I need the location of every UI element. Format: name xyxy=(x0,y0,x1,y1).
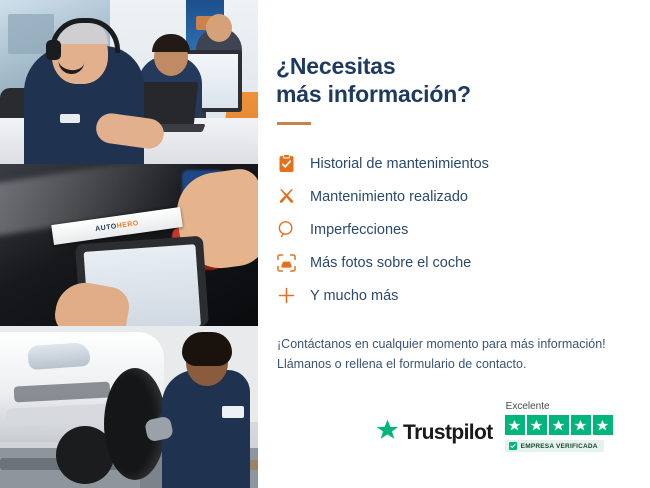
trustpilot-widget[interactable]: Trustpilot Excelente EMPRESA VERIFICADA xyxy=(376,401,613,452)
verified-company-badge: EMPRESA VERIFICADA xyxy=(505,440,604,452)
ruler-brand-part-b: HERO xyxy=(116,219,139,229)
trustpilot-wordmark: Trustpilot xyxy=(403,421,493,445)
trustpilot-star-icon xyxy=(376,419,399,446)
trustpilot-star-filled xyxy=(505,415,525,435)
mechanic-wheel-photo xyxy=(0,326,258,488)
page-title-line-2: más información? xyxy=(276,81,471,107)
verified-company-label: EMPRESA VERIFICADA xyxy=(521,443,598,450)
car-headlight xyxy=(27,342,91,370)
contact-line-1: ¡Contáctanos en cualquier momento para m… xyxy=(277,337,606,351)
trustpilot-star-filled xyxy=(593,415,613,435)
contact-line-2: Llámanos o rellena el formulario de cont… xyxy=(277,357,526,371)
page-title: ¿Necesitas más información? xyxy=(276,52,526,108)
mechanic-hair xyxy=(182,332,232,366)
promo-card: AUTOHERO ¿Nece xyxy=(0,0,650,488)
trustpilot-rating-block: Excelente EMPRESA VERIFICADA xyxy=(505,401,613,452)
ruler-brand-part-a: AUTO xyxy=(95,223,117,233)
check-icon xyxy=(509,442,517,450)
ruler-brand-label: AUTOHERO xyxy=(95,219,139,232)
agent-name-badge xyxy=(60,114,80,123)
feature-list: Historial de mantenimientos Mantenimient… xyxy=(276,147,650,312)
feature-label: Más fotos sobre el coche xyxy=(310,255,471,271)
trustpilot-star-filled xyxy=(571,415,591,435)
feature-item-imperfecciones: Imperfecciones xyxy=(276,213,650,246)
magnifier-icon xyxy=(276,220,296,240)
trustpilot-stars xyxy=(505,415,613,435)
feature-item-mas: Y mucho más xyxy=(276,279,650,312)
feature-item-mantenimiento: Mantenimiento realizado xyxy=(276,180,650,213)
mechanic-name-badge xyxy=(222,406,244,418)
trustpilot-star-filled xyxy=(549,415,569,435)
tools-icon xyxy=(276,187,296,207)
feature-label: Historial de mantenimientos xyxy=(310,156,489,172)
feature-label: Y mucho más xyxy=(310,288,398,304)
trustpilot-star-filled xyxy=(527,415,547,435)
plus-icon xyxy=(276,286,296,306)
content-panel: ¿Necesitas más información? Historial de… xyxy=(258,0,650,488)
contact-paragraph: ¡Contáctanos en cualquier momento para m… xyxy=(277,334,627,375)
car-inspection-ruler-photo: AUTOHERO xyxy=(0,164,258,326)
car-scan-icon xyxy=(276,253,296,273)
trustpilot-rating-label: Excelente xyxy=(506,401,550,412)
title-divider xyxy=(277,122,311,125)
feature-item-fotos: Más fotos sobre el coche xyxy=(276,246,650,279)
trustpilot-brand[interactable]: Trustpilot xyxy=(376,419,493,452)
feature-item-historial: Historial de mantenimientos xyxy=(276,147,650,180)
photo-column: AUTOHERO xyxy=(0,0,258,488)
call-center-agent-photo xyxy=(0,0,258,164)
feature-label: Imperfecciones xyxy=(310,222,408,238)
clipboard-check-icon xyxy=(276,154,296,174)
page-title-line-1: ¿Necesitas xyxy=(276,53,395,79)
feature-label: Mantenimiento realizado xyxy=(310,189,468,205)
background-colleague-two-head xyxy=(206,14,232,42)
